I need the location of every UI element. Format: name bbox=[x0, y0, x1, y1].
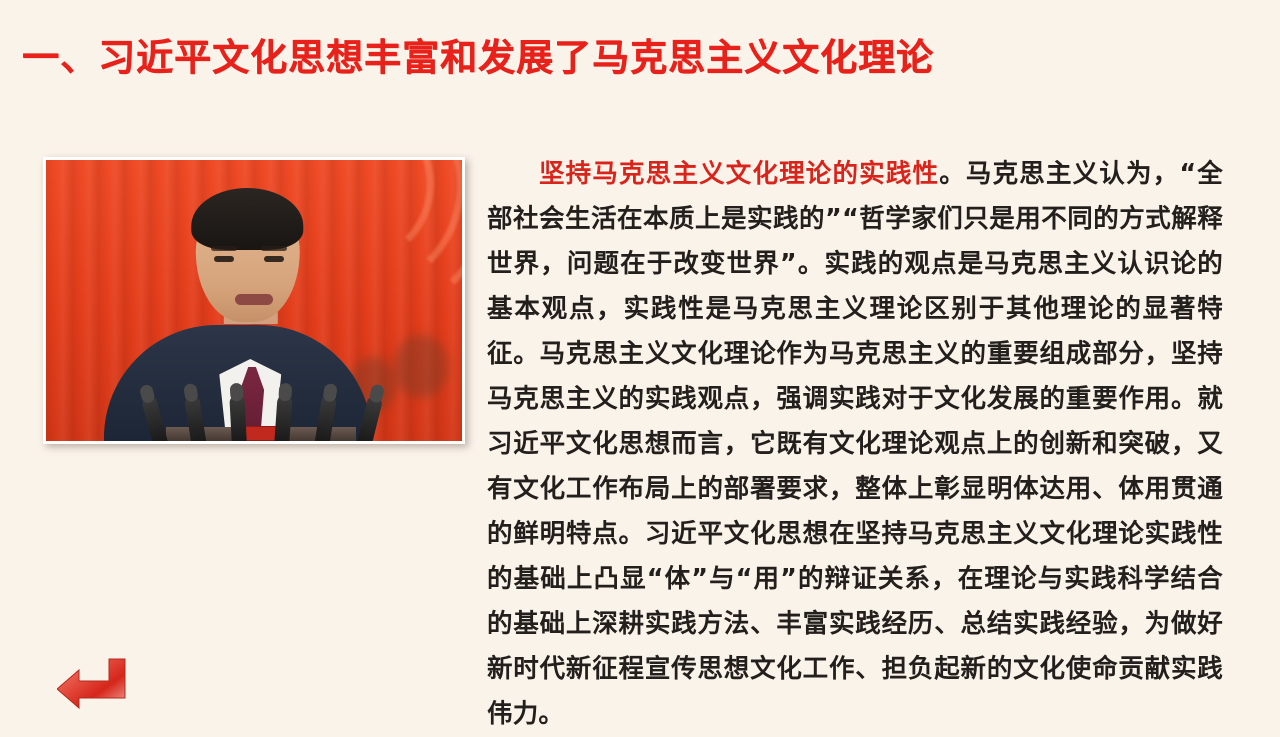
speaker-eye bbox=[264, 256, 284, 262]
return-arrow-button[interactable] bbox=[57, 657, 129, 709]
speaker-photo bbox=[43, 157, 465, 444]
speaker-mouth bbox=[235, 294, 273, 305]
speaker-photo-image bbox=[46, 160, 462, 441]
podium-nameplate bbox=[242, 426, 278, 441]
speaker-eye bbox=[214, 256, 234, 262]
return-arrow-icon bbox=[57, 657, 129, 709]
speaker-eyebrow bbox=[261, 246, 287, 251]
lead-phrase: 坚持马克思主义文化理论的实践性 bbox=[539, 159, 939, 189]
microphone-icon bbox=[229, 395, 247, 441]
microphone-icon bbox=[274, 395, 293, 441]
page-title: 一、习近平文化思想丰富和发展了马克思主义文化理论 bbox=[22, 32, 934, 84]
body-paragraph: 坚持马克思主义文化理论的实践性。马克思主义认为，“全部社会生活在本质上是实践的”… bbox=[487, 152, 1223, 737]
slide-canvas: 一、习近平文化思想丰富和发展了马克思主义文化理论 bbox=[0, 0, 1280, 720]
paragraph-text: 。马克思主义认为，“全部社会生活在本质上是实践的”“哲学家们只是用不同的方式解释… bbox=[487, 159, 1223, 729]
audience-blur bbox=[394, 335, 448, 397]
speaker-eyebrow bbox=[211, 246, 237, 251]
